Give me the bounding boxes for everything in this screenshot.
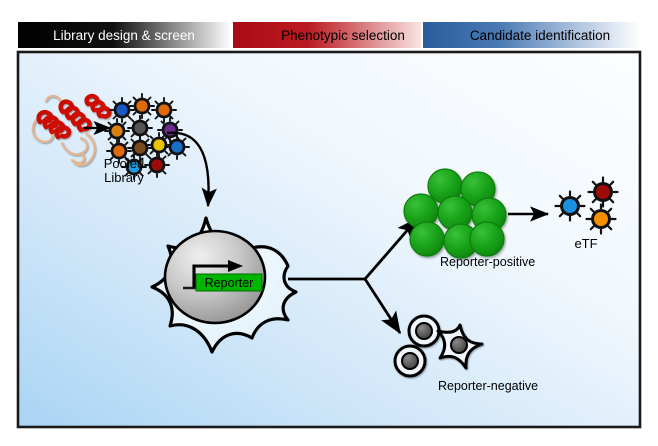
pooled-library-label-line1: Pooled bbox=[104, 156, 144, 171]
library-particle bbox=[105, 119, 129, 143]
library-particle bbox=[145, 153, 169, 177]
figure-root: Library design & screen Phenotypic selec… bbox=[0, 0, 658, 446]
positive-cell bbox=[470, 222, 504, 256]
etf-particle bbox=[587, 205, 616, 234]
library-particle bbox=[165, 135, 189, 159]
library-particle bbox=[130, 94, 154, 118]
library-particle bbox=[147, 133, 171, 157]
etf-label: eTF bbox=[574, 236, 597, 251]
diagram-canvas bbox=[18, 52, 640, 427]
etf-particle bbox=[589, 178, 618, 207]
negative-cell-round bbox=[409, 316, 439, 346]
header-bar-library-design-screen-label: Library design & screen bbox=[53, 28, 195, 43]
header-bar-candidate-identification-label: Candidate identification bbox=[470, 28, 610, 43]
header-bar-library-design-screen: Library design & screen bbox=[18, 22, 231, 48]
etf-particle bbox=[556, 192, 585, 221]
negative-cell-round bbox=[395, 346, 425, 376]
header-bar-candidate-identification: Candidate identification bbox=[423, 22, 640, 48]
pooled-library-label-line2: Library bbox=[104, 170, 144, 185]
reporter-negative-label: Reporter-negative bbox=[438, 379, 538, 393]
header-bar-phenotypic-selection-label: Phenotypic selection bbox=[281, 28, 405, 43]
positive-cell bbox=[410, 222, 444, 256]
library-particle bbox=[110, 98, 134, 122]
reporter-label: Reporter bbox=[205, 276, 254, 290]
library-particle bbox=[152, 98, 176, 122]
schematic-figure: Library design & screen Phenotypic selec… bbox=[0, 0, 658, 446]
header-bar-phenotypic-selection: Phenotypic selection bbox=[233, 22, 421, 48]
reporter-positive-label: Reporter-positive bbox=[440, 255, 535, 269]
